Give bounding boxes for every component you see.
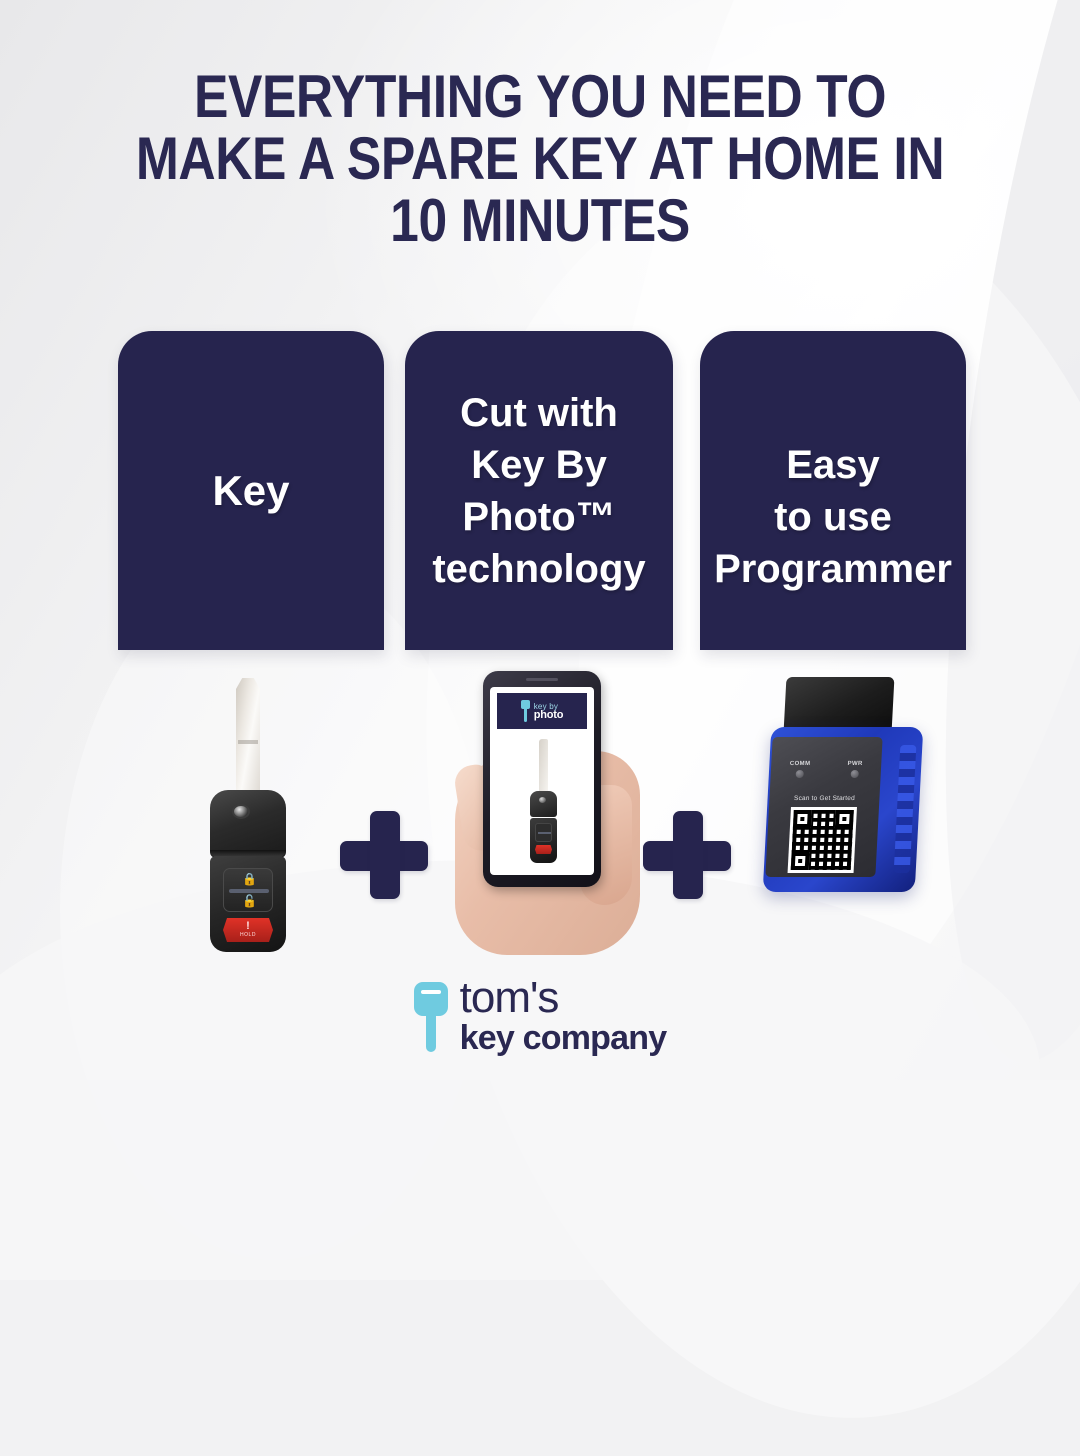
- obd-led-pwr: PWR: [847, 761, 863, 778]
- obd-led-comm: COMM: [789, 761, 811, 778]
- key-fob-emblem-icon: [232, 804, 250, 819]
- phone-screen-key-photo: [526, 739, 560, 867]
- panic-button-symbol: !: [223, 920, 273, 932]
- plus-icon-1: [340, 811, 428, 899]
- brand-wordmark-line-1: tom's: [460, 978, 667, 1018]
- obd-side-ridges: [894, 745, 917, 873]
- headline-line-3: 10 MINUTES: [76, 190, 1005, 252]
- brand-logo: tom's key company: [0, 978, 1080, 1056]
- plus-icon-1-bar-vertical: [370, 811, 400, 899]
- brand-wordmark-line-2: key company: [460, 1020, 667, 1056]
- obd-connector: [784, 677, 895, 733]
- obd-led-row: COMM PWR: [771, 761, 882, 778]
- phone-in-hand-image: key by photo: [455, 665, 640, 955]
- key-by-photo-key-icon: [521, 700, 530, 722]
- obd-led-pwr-label: PWR: [847, 761, 863, 767]
- obd-programmer-image: COMM PWR Scan to Get Started: [755, 675, 930, 915]
- obd-scan-instruction: Scan to Get Started: [769, 795, 879, 802]
- page-title: EVERYTHING YOU NEED TO MAKE A SPARE KEY …: [76, 66, 1005, 252]
- feature-card-key-label: Key: [212, 465, 289, 517]
- plus-icon-2: [643, 811, 731, 899]
- brand-key-icon-stem: [426, 1013, 436, 1052]
- key-lock-unlock-pad: 🔒 🔓: [223, 868, 273, 912]
- qr-code-icon: [788, 807, 857, 873]
- headline-line-2: MAKE A SPARE KEY AT HOME IN: [76, 128, 1005, 190]
- feature-card-row: Key Cut with Key By Photo™ technology Ea…: [0, 331, 1080, 651]
- feature-card-key: Key: [118, 331, 384, 650]
- key-by-photo-app-banner: key by photo: [497, 693, 587, 729]
- pad-divider: [229, 889, 269, 893]
- qr-finder-bottom-left: [791, 852, 810, 870]
- screen-key-emblem-icon: [539, 797, 546, 803]
- product-row: 🔒 🔓 ! HOLD: [0, 665, 1080, 965]
- smartphone: key by photo: [483, 671, 601, 887]
- obd-front-panel: COMM PWR Scan to Get Started: [765, 737, 882, 877]
- key-by-photo-wordmark: key by photo: [534, 702, 564, 720]
- brand-key-icon-head: [414, 982, 448, 1016]
- key-blade: [236, 678, 260, 800]
- phone-speaker: [526, 678, 558, 681]
- qr-code-pattern: [791, 810, 854, 870]
- panic-button: ! HOLD: [223, 918, 273, 942]
- key-icon-stem: [524, 708, 527, 722]
- unlock-icon: 🔓: [242, 895, 254, 907]
- feature-card-programmer-label: Easy to use Programmer: [714, 439, 952, 595]
- screen-key-blade: [539, 739, 548, 795]
- screen-key-panic-button: [535, 845, 552, 854]
- key-fob-head: [210, 790, 286, 858]
- phone-screen: key by photo: [490, 687, 594, 875]
- feature-card-key-by-photo-label: Cut with Key By Photo™ technology: [432, 387, 645, 595]
- brand-wordmark: tom's key company: [460, 978, 667, 1056]
- screen-key-button-pad: [535, 823, 552, 842]
- brand-key-icon: [414, 982, 448, 1052]
- qr-finder-top-left: [793, 810, 812, 828]
- plus-icon-2-bar-vertical: [673, 811, 703, 899]
- panic-button-label: HOLD: [223, 932, 273, 938]
- headline-line-1: EVERYTHING YOU NEED TO: [76, 66, 1005, 128]
- feature-card-programmer: Easy to use Programmer: [700, 331, 966, 650]
- screen-key-head: [530, 791, 557, 817]
- obd-led-comm-indicator: [795, 770, 803, 778]
- key-remote-image: 🔒 🔓 ! HOLD: [188, 678, 308, 953]
- obd-led-comm-label: COMM: [790, 761, 811, 767]
- feature-card-key-by-photo: Cut with Key By Photo™ technology: [405, 331, 673, 650]
- app-banner-line-2: photo: [534, 711, 564, 720]
- qr-finder-top-right: [835, 810, 854, 828]
- brand-key-icon-slot: [421, 990, 441, 994]
- key-fob-body: 🔒 🔓 ! HOLD: [210, 856, 286, 952]
- obd-led-pwr-indicator: [850, 770, 858, 778]
- lock-icon: 🔒: [242, 873, 254, 885]
